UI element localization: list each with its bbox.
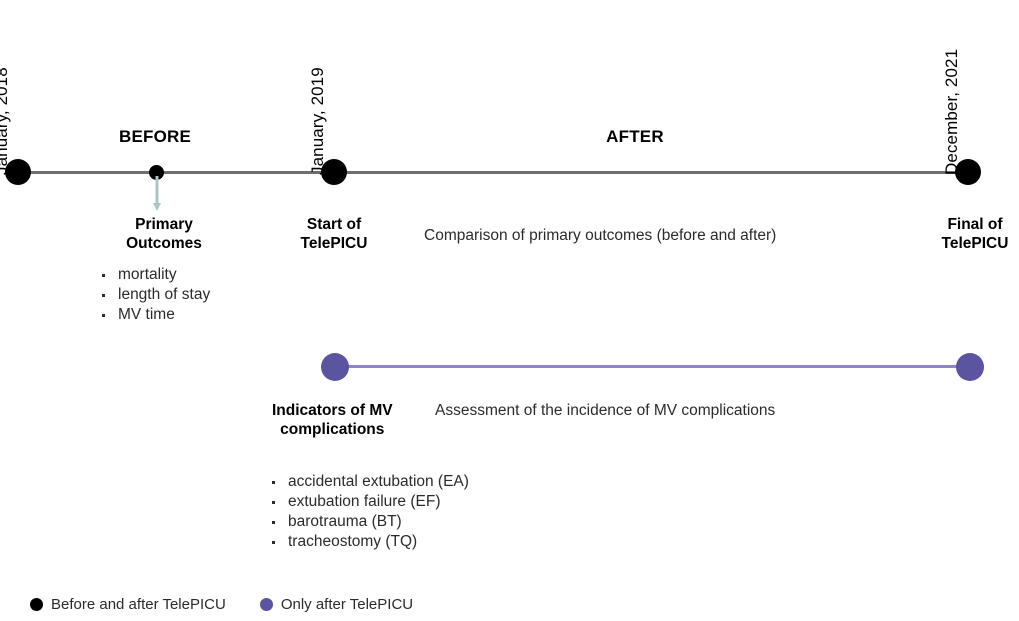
date-label-january-2019: January, 2019 (308, 67, 328, 175)
caption-final-of-telepicu-line2: TelePICU (942, 234, 1009, 253)
timeline-node-final-telepicu[interactable] (955, 159, 981, 185)
caption-primary-outcomes-line1: Primary (126, 215, 202, 234)
legend: Before and after TelePICU Only after Tel… (30, 596, 413, 613)
list-item: length of stay (100, 285, 210, 305)
mv-complications-list: accidental extubation (EA) extubation fa… (270, 472, 469, 552)
caption-final-of-telepicu: Final of TelePICU (942, 215, 1009, 253)
mv-complications-axis (335, 365, 970, 368)
list-item: extubation failure (EF) (270, 492, 469, 512)
caption-primary-outcomes-line2: Outcomes (126, 234, 202, 253)
legend-purple-dot-icon (260, 598, 273, 611)
caption-start-of-telepicu: Start of TelePICU (301, 215, 368, 253)
list-item: MV time (100, 305, 210, 325)
timeline-node-start-2018[interactable] (5, 159, 31, 185)
primary-outcomes-list: mortality length of stay MV time (100, 265, 210, 325)
caption-start-of-telepicu-line1: Start of (301, 215, 368, 234)
date-label-january-2018: January, 2018 (0, 67, 12, 175)
list-item: accidental extubation (EA) (270, 472, 469, 492)
legend-item-only-after: Only after TelePICU (260, 596, 413, 613)
caption-mv-complications-line1: Indicators of MV (272, 401, 393, 420)
caption-mv-complications-line2: complications (272, 420, 393, 439)
note-mv-complications-assessment: Assessment of the incidence of MV compli… (435, 401, 775, 420)
connector-arrow-icon (149, 176, 165, 212)
caption-mv-complications: Indicators of MV complications (272, 401, 393, 439)
date-label-december-2021: December, 2021 (942, 49, 962, 175)
list-item: tracheostomy (TQ) (270, 532, 469, 552)
list-item: mortality (100, 265, 210, 285)
note-comparison-primary-outcomes: Comparison of primary outcomes (before a… (424, 226, 776, 245)
caption-start-of-telepicu-line2: TelePICU (301, 234, 368, 253)
mv-timeline-node-start[interactable] (321, 353, 349, 381)
period-label-before: BEFORE (119, 127, 191, 147)
timeline-figure: January, 2018 January, 2019 December, 20… (0, 0, 1019, 621)
legend-item-before-after: Before and after TelePICU (30, 596, 226, 613)
mv-timeline-node-end[interactable] (956, 353, 984, 381)
legend-item-label: Before and after TelePICU (51, 596, 226, 613)
legend-black-dot-icon (30, 598, 43, 611)
caption-primary-outcomes: Primary Outcomes (126, 215, 202, 253)
timeline-node-start-telepicu[interactable] (321, 159, 347, 185)
list-item: barotrauma (BT) (270, 512, 469, 532)
period-label-after: AFTER (606, 127, 664, 147)
caption-final-of-telepicu-line1: Final of (942, 215, 1009, 234)
legend-item-label: Only after TelePICU (281, 596, 413, 613)
